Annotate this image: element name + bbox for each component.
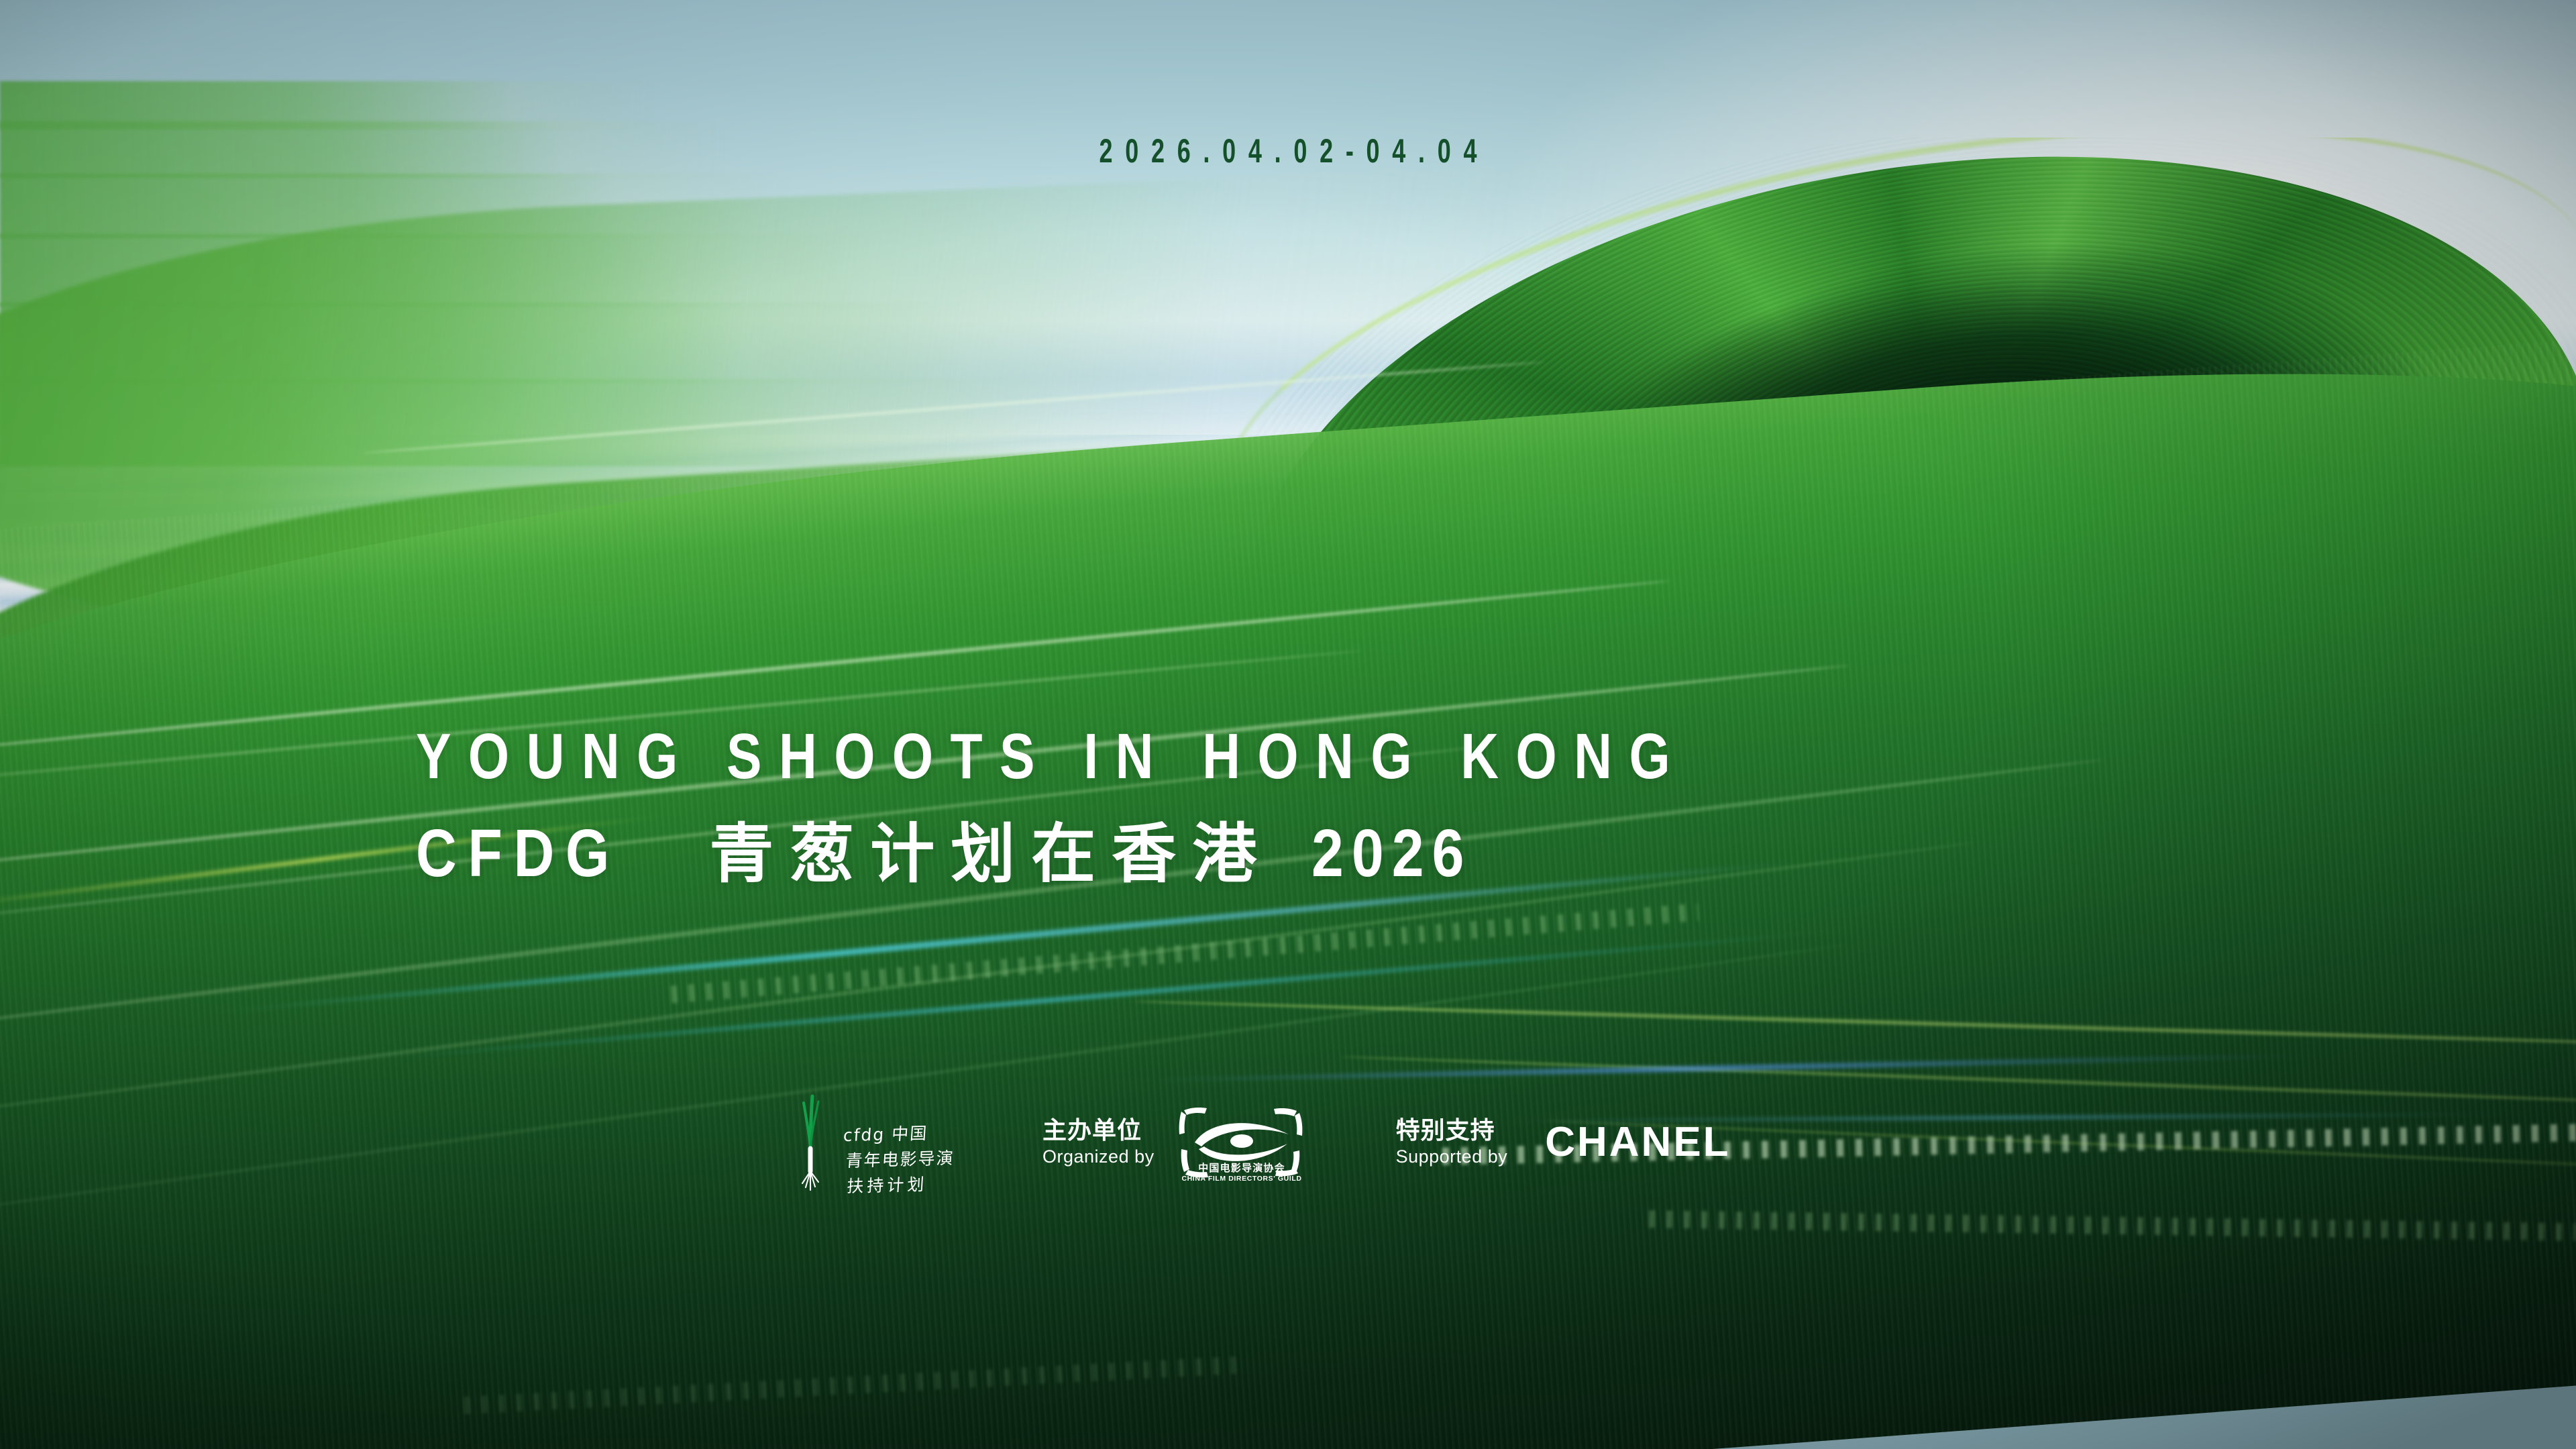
organizer-label-cn: 主办单位 [1042,1118,1155,1144]
cfdg-line-1: cfdg 中国 [841,1120,957,1149]
svg-text:CHINA FILM DIRECTORS' GUILD: CHINA FILM DIRECTORS' GUILD [1181,1175,1301,1183]
supporter-label-en: Supported by [1396,1146,1508,1167]
svg-text:中国电影导演协会: 中国电影导演协会 [1198,1162,1285,1174]
cfdg-line-2: 青年电影导演 [840,1146,955,1175]
supporter-label-cn: 特别支持 [1396,1118,1508,1144]
event-date: 2026.04.02-04.04 [361,131,2216,170]
credit-supporter: 特别支持 Supported by CHANEL [1396,1118,1731,1168]
chanel-wordmark: CHANEL [1545,1122,1730,1163]
title-block: YOUNG SHOOTS IN HONG KONG CFDG 青葱计划在香港 2… [416,724,1966,887]
credit-organizer: 主办单位 Organized by [1042,1102,1309,1183]
title-hanzi: 青葱计划在香港 [709,822,1273,886]
scallion-shoot-icon [792,1092,832,1193]
cfdg-line-3: 扶持计划 [838,1171,953,1200]
poster-canvas: 2026.04.02-04.04 YOUNG SHOOTS IN HONG KO… [0,0,2576,1449]
cfdg-programme-logo: cfdg 中国 青年电影导演 扶持计划 [792,1092,955,1193]
cfdg-wordmark-text: cfdg 中国 青年电影导演 扶持计划 [838,1091,959,1200]
page-title-chinese-row: CFDG 青葱计划在香港 2026 [416,820,1966,887]
page-title-english: YOUNG SHOOTS IN HONG KONG [416,724,1687,789]
supporter-label: 特别支持 Supported by [1396,1118,1508,1168]
organizer-label: 主办单位 Organized by [1042,1118,1155,1168]
organizer-label-en: Organized by [1042,1146,1155,1167]
credits-row: cfdg 中国 青年电影导演 扶持计划 主办单位 Organized by [792,1085,1731,1199]
title-cfdg: CFDG [416,820,621,887]
title-year: 2026 [1311,820,1472,887]
film-frame-eye-icon: 中国电影导演协会 CHINA FILM DIRECTORS' GUILD [1175,1102,1309,1183]
